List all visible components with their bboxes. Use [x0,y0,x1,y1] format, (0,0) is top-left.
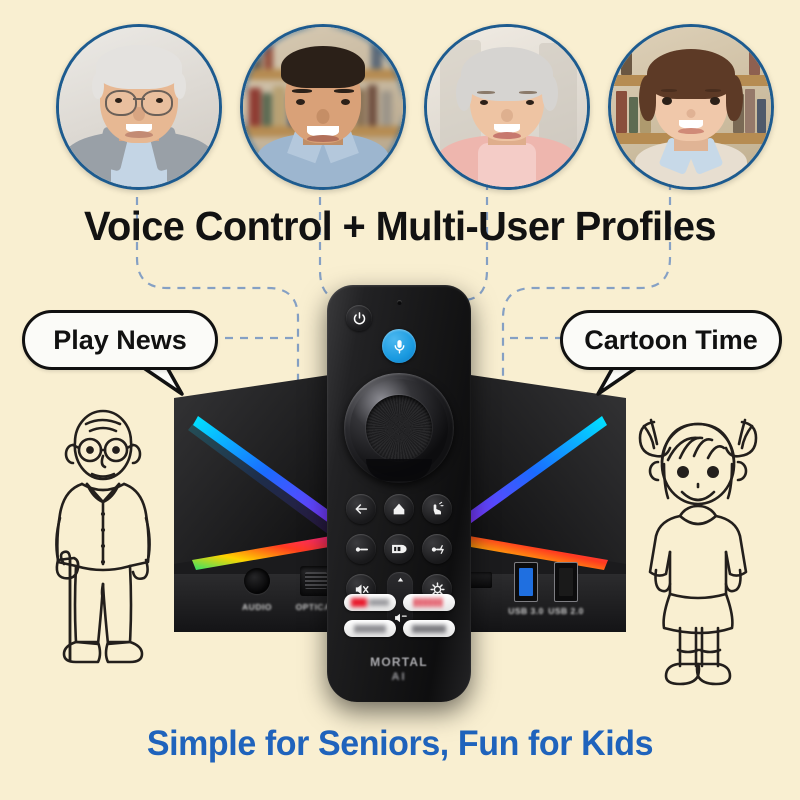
right-eye [341,99,350,105]
app-logo [403,594,455,611]
portrait-elderly-woman [424,24,590,190]
remote-brand: MORTAL [327,655,471,669]
back-button[interactable] [346,494,376,524]
hair [96,45,182,89]
app-shortcut-2[interactable] [403,594,455,611]
usb2-port [554,562,578,602]
senior-figure [24,398,180,690]
app-shortcut-1[interactable] [344,594,396,611]
volume-up-icon[interactable] [394,575,407,588]
glasses-right-lens [141,90,173,116]
home-button[interactable] [384,494,414,524]
lower-lip [493,132,521,139]
audio-jack-label: AUDIO [228,602,286,612]
rewind-icon [353,542,370,557]
home-icon [391,501,407,517]
bubble-cartoon-time-label: Cartoon Time [584,325,758,356]
promo-image: Voice Control + Multi-User Profiles [0,0,800,800]
play-pause-button[interactable] [384,534,414,564]
child-figure [618,400,778,690]
nose [501,109,513,122]
tagline: Simple for Seniors, Fun for Kids [12,724,788,764]
portrait-elderly-man [56,24,222,190]
nose [687,109,696,118]
fast-forward-button[interactable] [422,534,452,564]
headline: Voice Control + Multi-User Profiles [12,203,788,250]
hair [647,49,735,99]
portrait-adult-man [240,24,406,190]
dpad-ring[interactable] [344,373,454,483]
microphone-hole [397,300,402,305]
nose [133,107,145,121]
audio-jack [244,568,270,594]
hair [281,46,365,88]
power-icon [352,311,367,326]
shirt [478,143,536,187]
microphone-icon [391,338,408,355]
app-shortcut-3[interactable] [344,620,396,637]
fast-forward-icon [429,542,446,557]
right-brow [705,89,721,92]
glasses-bridge [133,98,145,100]
power-button[interactable] [346,305,372,331]
lower-lip [678,128,704,134]
nose [317,109,330,124]
right-eye [156,98,163,103]
usb2-port-label: USB 2.0 [538,606,594,616]
left-eye [296,99,305,105]
app-logo [344,620,396,637]
right-eye [526,100,534,105]
right-brow [519,91,537,94]
bubble-play-news-label: Play News [53,325,187,356]
voice-remote[interactable]: MORTAL AI [327,285,471,702]
menu-button[interactable] [422,494,452,524]
right-brow [334,89,354,93]
voice-mic-button[interactable] [382,329,416,363]
bubble-play-news: Play News [22,310,218,370]
right-eye [710,97,720,105]
back-arrow-icon [353,501,369,517]
usb3-port [514,562,538,602]
dpad-select-button[interactable] [366,395,432,461]
left-eye [115,98,122,103]
hair [461,47,553,101]
app-shortcut-4[interactable] [403,620,455,637]
lower-lip [307,135,339,142]
left-brow [661,89,677,92]
left-brow [477,91,495,94]
menu-hand-icon [429,501,445,517]
lower-lip [125,131,153,138]
bubble-cartoon-time: Cartoon Time [560,310,782,370]
left-brow [292,89,312,93]
rewind-button[interactable] [346,534,376,564]
remote-brand-sub: AI [327,671,471,683]
play-pause-icon [390,542,408,556]
app-logo [344,594,396,611]
left-eye [662,97,672,105]
portrait-young-girl [608,24,774,190]
app-logo [403,620,455,637]
left-eye [480,100,488,105]
